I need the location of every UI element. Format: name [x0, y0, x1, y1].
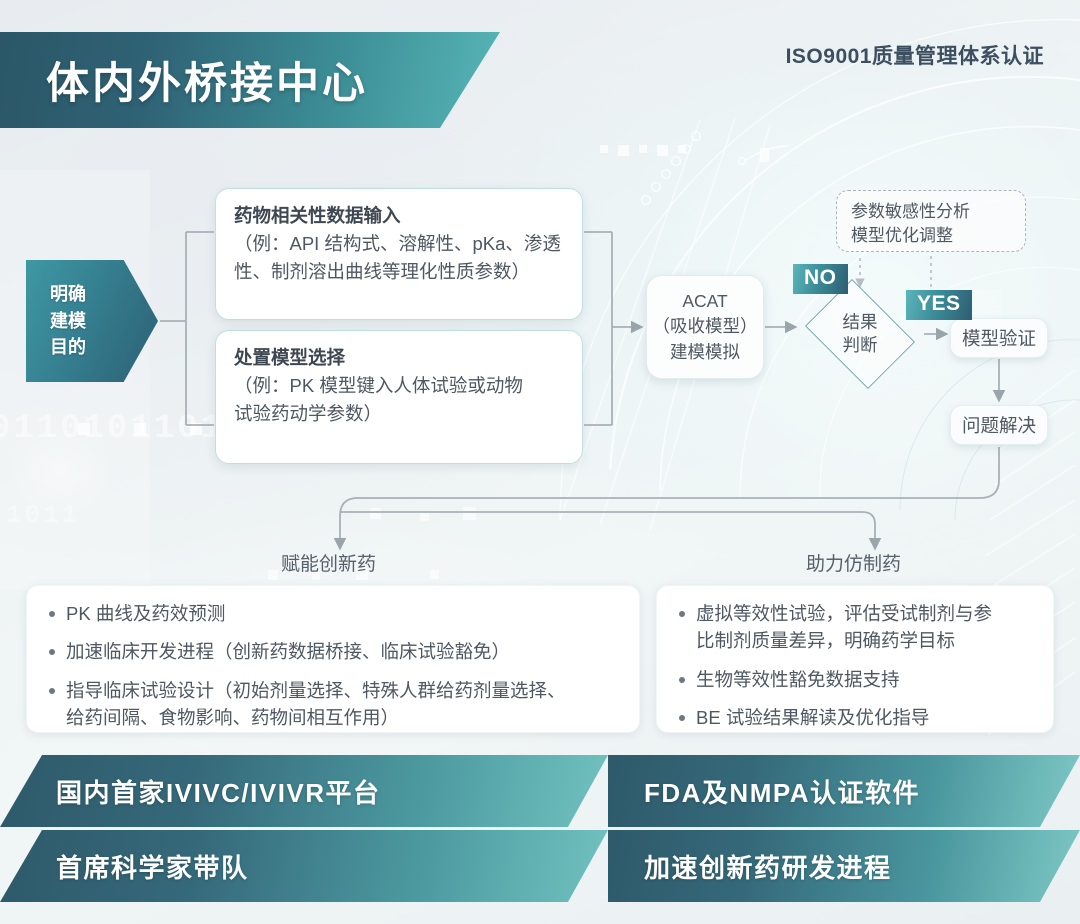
generic-item-2-line-1: 生物等效性豁免数据支持	[696, 669, 900, 690]
page-title: 体内外桥接中心	[46, 49, 368, 111]
sensitivity-line-1: 参数敏感性分析	[851, 200, 1025, 224]
bottom-bar-1-left: 国内首家IVIVC/IVIVR平台	[0, 755, 608, 827]
bullet-dot-icon	[49, 611, 55, 617]
card-model-verification: 模型验证	[950, 318, 1048, 358]
bottom-bar-row-2: 首席科学家带队 加速创新药研发进程	[0, 830, 1080, 902]
purpose-line-3: 目的	[50, 334, 86, 361]
header-banner: 体内外桥接中心	[0, 32, 500, 128]
decision-line-2: 判断	[843, 334, 878, 357]
acat-line-1: ACAT	[653, 289, 758, 314]
bullet-dot-icon	[49, 688, 55, 694]
list-item: 加速临床开发进程（创新药数据桥接、临床试验豁免）	[49, 638, 621, 665]
section-label-generic-drug: 助力仿制药	[806, 549, 901, 576]
decision-diamond: 结果 判断	[797, 287, 923, 381]
innovative-item-3-line-1: 指导临床试验设计（初始剂量选择、特殊人群给药剂量选择、	[66, 677, 566, 704]
generic-item-3-line-1: BE 试验结果解读及优化指导	[696, 707, 929, 728]
bottom-bar-1-left-label: 国内首家IVIVC/IVIVR平台	[56, 773, 381, 810]
bottom-bar-1-right: FDA及NMPA认证软件	[608, 755, 1080, 827]
purpose-line-1: 明确	[50, 281, 86, 308]
bottom-bar-2-right-label: 加速创新药研发进程	[644, 848, 892, 885]
list-item: 生物等效性豁免数据支持	[679, 666, 1037, 693]
bullet-dot-icon	[49, 649, 55, 655]
bottom-bar-row-1: 国内首家IVIVC/IVIVR平台 FDA及NMPA认证软件	[0, 755, 1080, 827]
card-problem-resolution: 问题解决	[950, 405, 1048, 445]
certification-label: ISO9001质量管理体系认证	[786, 40, 1044, 70]
generic-item-1-line-2: 比制剂质量差异，明确药学目标	[696, 627, 992, 654]
innovative-item-1-line-1: PK 曲线及药效预测	[66, 603, 225, 624]
badge-no: NO	[793, 264, 848, 294]
purpose-line-2: 建模	[50, 308, 86, 335]
list-item: PK 曲线及药效预测	[49, 600, 621, 627]
bottom-bar-2-left: 首席科学家带队	[0, 830, 608, 902]
bottom-bar-2-left-label: 首席科学家带队	[56, 848, 249, 885]
card-sensitivity-analysis: 参数敏感性分析 模型优化调整	[836, 190, 1026, 252]
innovative-item-2-line-1: 加速临床开发进程（创新药数据桥接、临床试验豁免）	[66, 641, 510, 662]
bullet-dot-icon	[679, 715, 685, 721]
decision-line-1: 结果	[843, 311, 878, 334]
acat-line-3: 建模模拟	[653, 340, 758, 365]
list-item: 虚拟等效性试验，评估受试制剂与参 比制剂质量差异，明确药学目标	[679, 600, 1037, 655]
bullet-dot-icon	[679, 677, 685, 683]
sensitivity-line-2: 模型优化调整	[851, 224, 1025, 248]
card-acat-simulation: ACAT （吸收模型） 建模模拟	[646, 275, 764, 379]
acat-line-2: （吸收模型）	[653, 314, 758, 339]
innovative-item-3-line-2: 给药间隔、食物影响、药物间相互作用）	[66, 704, 566, 731]
generic-item-1-line-1: 虚拟等效性试验，评估受试制剂与参	[696, 600, 992, 627]
panel-innovative-drug-benefits: PK 曲线及药效预测 加速临床开发进程（创新药数据桥接、临床试验豁免） 指导临床…	[26, 585, 640, 733]
panel-generic-drug-benefits: 虚拟等效性试验，评估受试制剂与参 比制剂质量差异，明确药学目标 生物等效性豁免数…	[656, 585, 1054, 733]
bullet-dot-icon	[679, 611, 685, 617]
list-item: BE 试验结果解读及优化指导	[679, 704, 1037, 731]
badge-yes: YES	[906, 290, 972, 320]
bottom-bar-1-right-label: FDA及NMPA认证软件	[644, 773, 920, 810]
section-label-innovative-drug: 赋能创新药	[281, 549, 376, 576]
bottom-bar-2-right: 加速创新药研发进程	[608, 830, 1080, 902]
list-item: 指导临床试验设计（初始剂量选择、特殊人群给药剂量选择、 给药间隔、食物影响、药物…	[49, 677, 621, 732]
modeling-purpose-lines: 明确 建模 目的	[50, 281, 86, 361]
